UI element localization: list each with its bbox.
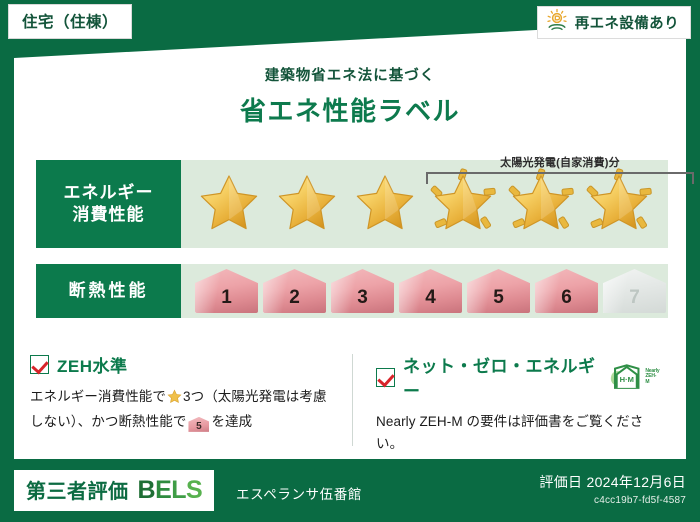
nze-claim-header: ネット・ゼロ・エネルギー H·M xyxy=(376,352,660,402)
insulation-performance-row: 断熱性能 1234567 xyxy=(36,264,668,318)
net-zero-energy-claim: ネット・ゼロ・エネルギー H·M xyxy=(352,352,674,448)
insulation-row-label: 断熱性能 xyxy=(36,264,181,318)
zeh-claim-header: ZEH水準 xyxy=(30,352,338,377)
energy-row-label: エネルギー 消費性能 xyxy=(36,160,181,248)
inline-grade-number: 5 xyxy=(196,421,202,432)
star-icon xyxy=(193,165,265,243)
check-icon xyxy=(30,355,49,374)
zeh-claim-title: ZEH水準 xyxy=(57,352,128,377)
zehm-mark-text: H·M xyxy=(620,375,634,384)
insulation-grade-badge: 3 xyxy=(331,269,394,313)
nze-claim-body: Nearly ZEH-M の要件は評価書をご覧ください。 xyxy=(376,411,660,455)
footer-meta: 評価日 2024年12月6日 c4cc19b7-fd5f-4587 xyxy=(539,472,686,506)
building-name: エスペランサ伍番館 xyxy=(236,483,362,503)
insulation-grade-number: 3 xyxy=(357,287,368,309)
star-icon xyxy=(271,165,343,243)
energy-row-body: 太陽光発電(自家消費)分 xyxy=(181,160,668,248)
energy-label-line2: 消費性能 xyxy=(73,204,145,226)
energy-performance-row: エネルギー 消費性能 太陽光発電(自家消費)分 xyxy=(36,160,668,248)
housing-type-tag: 住宅（住棟） xyxy=(8,4,132,39)
bels-certification-badge: 第三者評価 BELS xyxy=(14,470,214,511)
evaluation-date: 評価日 2024年12月6日 xyxy=(539,472,686,492)
insulation-grade-number: 6 xyxy=(561,287,572,309)
insulation-grade-badge: 5 xyxy=(467,269,530,313)
insulation-row-body: 1234567 xyxy=(181,264,668,318)
insulation-grade-number: 4 xyxy=(425,287,436,309)
nearly-zehm-logo: H·M Nearly ZEH-M xyxy=(610,364,660,390)
insulation-grade-number: 2 xyxy=(289,287,300,309)
insulation-grade-scale: 1234567 xyxy=(181,269,666,313)
bels-ja-label: 第三者評価 xyxy=(26,475,129,504)
inline-star-icon xyxy=(167,389,182,411)
insulation-grade-number: 7 xyxy=(629,287,640,309)
footer: 第三者評価 BELS エスペランサ伍番館 評価日 2024年12月6日 c4cc… xyxy=(0,462,700,522)
insulation-grade-badge: 7 xyxy=(603,269,666,313)
zeh-body-part3: を達成 xyxy=(211,414,252,429)
inline-grade-house-icon: 5 xyxy=(188,417,209,432)
insulation-grade-number: 1 xyxy=(221,287,232,309)
energy-performance-label: 住宅（住棟） 再エネ設備あり 建築物省エ xyxy=(0,0,700,522)
page-title: 建築物省エネ法に基づく 省エネ性能ラベル xyxy=(0,64,700,128)
zeh-body-part1: エネルギー消費性能で xyxy=(30,389,166,404)
zeh-standard-claim: ZEH水準 エネルギー消費性能で3つ（太陽光発電は考慮しない）、かつ断熱性能で5… xyxy=(30,352,352,448)
document-id: c4cc19b7-fd5f-4587 xyxy=(539,495,686,506)
star-icon xyxy=(349,165,421,243)
title-main: 省エネ性能ラベル xyxy=(0,91,700,128)
nze-claim-title: ネット・ゼロ・エネルギー xyxy=(403,352,596,402)
zehm-logo-line2: ZEH-M xyxy=(645,374,660,385)
solar-sun-icon xyxy=(545,8,569,37)
insulation-grade-badge: 1 xyxy=(195,269,258,313)
insulation-grade-badge: 2 xyxy=(263,269,326,313)
insulation-grade-badge: 6 xyxy=(535,269,598,313)
zeh-claim-body: エネルギー消費性能で3つ（太陽光発電は考慮しない）、かつ断熱性能で5を達成 xyxy=(30,386,338,433)
title-subtitle: 建築物省エネ法に基づく xyxy=(0,64,700,85)
claims-section: ZEH水準 エネルギー消費性能で3つ（太陽光発電は考慮しない）、かつ断熱性能で5… xyxy=(30,352,674,448)
energy-label-line1: エネルギー xyxy=(64,182,154,204)
solar-bracket-label: 太陽光発電(自家消費)分 xyxy=(426,154,694,170)
renewable-badge-label: 再エネ設備あり xyxy=(575,12,679,33)
insulation-grade-badge: 4 xyxy=(399,269,462,313)
check-icon xyxy=(376,368,395,387)
bels-en-label: BELS xyxy=(138,476,203,505)
solar-bracket xyxy=(426,172,694,184)
insulation-grade-number: 5 xyxy=(493,287,504,309)
renewable-equipment-badge: 再エネ設備あり xyxy=(537,6,691,39)
